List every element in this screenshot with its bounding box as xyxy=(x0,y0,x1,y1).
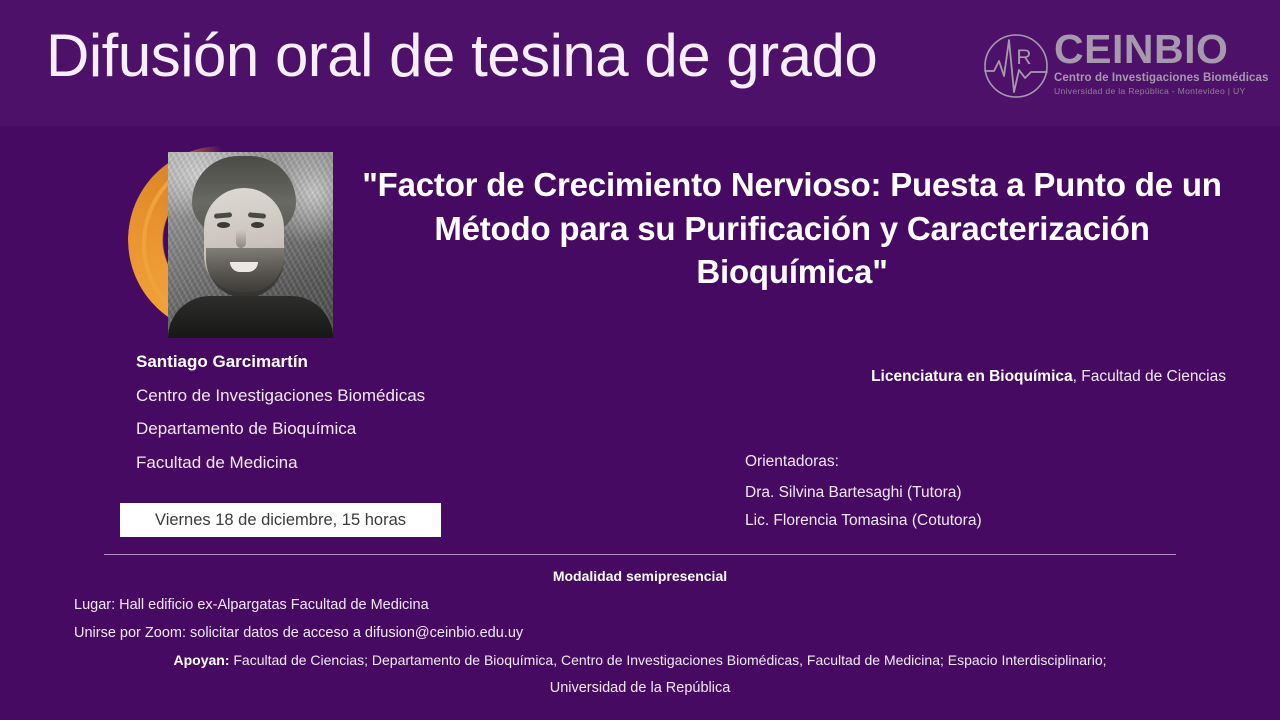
ceinbio-ecg-circle-icon: R xyxy=(980,30,1052,102)
footer-location: Lugar: Hall edificio ex-Alpargatas Facul… xyxy=(74,597,429,613)
poster-canvas: Difusión oral de tesina de grado R CEINB… xyxy=(0,0,1280,720)
speaker-affiliation-1: Centro de Investigaciones Biomédicas xyxy=(136,386,425,406)
photo-eye-right xyxy=(251,222,264,228)
presentation-title: "Factor de Crecimiento Nervioso: Puesta … xyxy=(358,163,1226,294)
footer-zoom-info: Unirse por Zoom: solicitar datos de acce… xyxy=(74,625,523,641)
footer-support-label: Apoyan: xyxy=(173,652,229,668)
degree-faculty: , Facultad de Ciencias xyxy=(1073,368,1226,385)
footer-university: Universidad de la República xyxy=(0,680,1280,696)
ceinbio-logo: R CEINBIO Centro de Investigaciones Biom… xyxy=(980,28,1258,106)
degree-program: Licenciatura en Bioquímica xyxy=(871,368,1073,385)
logo-tagline: Universidad de la República - Montevideo… xyxy=(1054,86,1258,96)
speaker-affiliation-2: Departamento de Bioquímica xyxy=(136,419,356,439)
footer-support-text: Facultad de Ciencias; Departamento de Bi… xyxy=(229,652,1106,668)
event-date-badge: Viernes 18 de diciembre, 15 horas xyxy=(120,503,441,537)
degree-line: Licenciatura en Bioquímica, Facultad de … xyxy=(626,368,1226,386)
speaker-portrait xyxy=(128,146,333,341)
speaker-photo xyxy=(168,152,333,338)
footer-modality: Modalidad semipresencial xyxy=(0,568,1280,584)
logo-subtitle: Centro de Investigaciones Biomédicas xyxy=(1054,72,1258,84)
advisors-block: Orientadoras: Dra. Silvina Bartesaghi (T… xyxy=(745,453,1225,540)
footer-divider xyxy=(104,554,1176,555)
photo-shirt xyxy=(168,296,333,338)
footer-support: Apoyan: Facultad de Ciencias; Departamen… xyxy=(0,652,1280,668)
logo-wordmark: CEINBIO xyxy=(1054,28,1258,71)
page-title: Difusión oral de tesina de grado xyxy=(46,24,877,87)
svg-text:R: R xyxy=(1016,46,1031,69)
speaker-name: Santiago Garcimartín xyxy=(136,352,308,372)
advisor-item: Lic. Florencia Tomasina (Cotutora) xyxy=(745,512,1225,530)
advisors-label: Orientadoras: xyxy=(745,453,1225,471)
event-date-text: Viernes 18 de diciembre, 15 horas xyxy=(155,511,406,530)
photo-eye-left xyxy=(217,222,230,228)
logo-text-block: CEINBIO Centro de Investigaciones Bioméd… xyxy=(1054,28,1258,96)
advisor-item: Dra. Silvina Bartesaghi (Tutora) xyxy=(745,484,1225,502)
photo-nose xyxy=(236,230,246,248)
speaker-affiliation-3: Facultad de Medicina xyxy=(136,453,298,473)
